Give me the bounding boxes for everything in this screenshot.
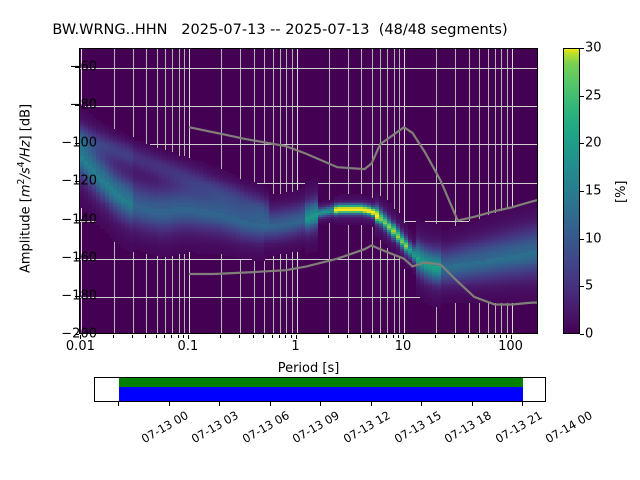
timeline-tick-label: 07-13 18 <box>442 408 494 446</box>
x-tick-mark <box>272 335 273 338</box>
colorbar-tick-mark <box>580 96 584 97</box>
colorbar-label: [%] <box>614 181 629 204</box>
y-tick-label: −80 <box>37 98 97 113</box>
x-tick-mark <box>478 335 479 338</box>
timeline-tick-label: 07-13 09 <box>290 408 342 446</box>
y-tick-mark <box>75 143 79 144</box>
y-tick-mark <box>75 105 79 106</box>
x-tick-label: 0.01 <box>66 339 95 354</box>
x-tick-mark <box>454 335 455 338</box>
timeline-tick-mark <box>118 402 119 406</box>
x-tick-mark <box>285 335 286 338</box>
colorbar-tick-mark <box>580 191 584 192</box>
noise-model-curves <box>80 49 537 333</box>
timeline-tick-label: 07-13 15 <box>391 408 443 446</box>
y-tick-label: −120 <box>37 174 97 189</box>
x-tick-mark <box>291 335 292 338</box>
x-tick-mark <box>113 335 114 338</box>
timeline-tick-label: 07-14 00 <box>543 408 595 446</box>
timeline-tick-label: 07-13 00 <box>139 408 191 446</box>
noise-model-nhnm <box>189 127 537 220</box>
x-tick-mark <box>253 335 254 338</box>
coverage-timeline <box>94 377 546 402</box>
timeline-tick-label: 07-13 12 <box>341 408 393 446</box>
timeline-tick-mark <box>320 402 321 406</box>
colorbar-tick-mark <box>580 143 584 144</box>
ppsd-heatmap <box>80 49 537 333</box>
y-tick-mark <box>75 296 79 297</box>
timeline-tick-mark <box>522 402 523 406</box>
x-tick-mark <box>156 335 157 338</box>
x-tick-mark <box>435 335 436 338</box>
y-tick-label: −100 <box>37 136 97 151</box>
page-title: BW.WRNG..HHN 2025-07-13 -- 2025-07-13 (4… <box>0 22 560 38</box>
x-tick-mark <box>220 335 221 338</box>
colorbar-tick-label: 0 <box>585 327 593 342</box>
colorbar-tick-label: 20 <box>585 136 602 151</box>
y-tick-label: −60 <box>37 60 97 75</box>
x-tick-mark <box>178 335 179 338</box>
colorbar-tick-label: 30 <box>585 41 602 56</box>
y-tick-mark <box>75 181 79 182</box>
timeline-tick-label: 07-13 21 <box>492 408 544 446</box>
x-tick-mark <box>393 335 394 338</box>
timeline-tick-mark <box>472 402 473 406</box>
x-tick-mark <box>183 335 184 338</box>
timeline-tick-mark <box>270 402 271 406</box>
timeline-bar-data-coverage <box>119 378 523 387</box>
y-tick-label: −140 <box>37 212 97 227</box>
x-tick-mark <box>279 335 280 338</box>
x-tick-mark <box>487 335 488 338</box>
x-tick-mark <box>506 335 507 338</box>
x-tick-mark <box>132 335 133 338</box>
x-tick-mark <box>468 335 469 338</box>
x-tick-label: 100 <box>498 339 523 354</box>
timeline-tick-mark <box>371 402 372 406</box>
x-axis-label: Period [s] <box>0 361 617 376</box>
x-tick-mark <box>145 335 146 338</box>
timeline-tick-mark <box>219 402 220 406</box>
colorbar-tick-mark <box>580 239 584 240</box>
timeline-tick-label: 07-13 03 <box>189 408 241 446</box>
y-tick-mark <box>75 220 79 221</box>
y-tick-label: −160 <box>37 250 97 265</box>
colorbar-tick-mark <box>580 286 584 287</box>
x-tick-mark <box>328 335 329 338</box>
x-tick-mark <box>171 335 172 338</box>
x-tick-mark <box>398 335 399 338</box>
y-tick-mark <box>75 67 79 68</box>
x-tick-mark <box>371 335 372 338</box>
x-tick-label: 10 <box>395 339 412 354</box>
x-tick-mark <box>500 335 501 338</box>
colorbar-tick-mark <box>580 48 584 49</box>
timeline-bar-psd-segments <box>119 387 523 401</box>
colorbar-tick-mark <box>580 334 584 335</box>
timeline-tick-mark <box>421 402 422 406</box>
ppsd-plot-axes <box>79 48 538 334</box>
colorbar-tick-label: 5 <box>585 279 593 294</box>
noise-model-nlnm <box>189 245 537 304</box>
y-tick-mark <box>75 334 79 335</box>
y-tick-label: −180 <box>37 288 97 303</box>
x-tick-mark <box>360 335 361 338</box>
colorbar-tick-label: 10 <box>585 231 602 246</box>
x-tick-mark <box>263 335 264 338</box>
colorbar <box>563 48 580 334</box>
x-tick-label: 1 <box>291 339 299 354</box>
x-tick-mark <box>494 335 495 338</box>
x-tick-mark <box>164 335 165 338</box>
x-tick-mark <box>239 335 240 338</box>
colorbar-tick-label: 15 <box>585 184 602 199</box>
timeline-tick-label: 07-13 06 <box>240 408 292 446</box>
x-tick-label: 0.1 <box>178 339 199 354</box>
x-tick-mark <box>347 335 348 338</box>
y-tick-mark <box>75 258 79 259</box>
timeline-tick-mark <box>169 402 170 406</box>
colorbar-tick-label: 25 <box>585 88 602 103</box>
x-tick-mark <box>386 335 387 338</box>
y-axis-label: Amplitude [m2/s4/Hz] [dB] <box>16 104 33 273</box>
x-tick-mark <box>379 335 380 338</box>
